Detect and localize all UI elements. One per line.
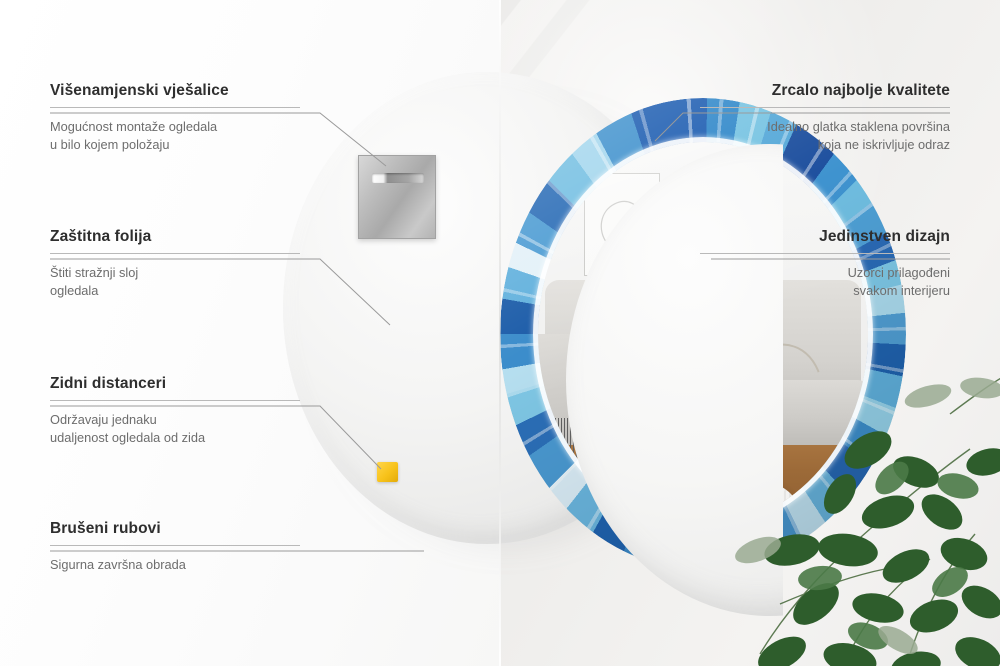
callout-film-rule (50, 253, 300, 254)
callout-hanger-rule (50, 107, 300, 108)
callout-edges-title: Brušeni rubovi (50, 520, 300, 538)
callout-design-title: Jedinstven dizajn (700, 228, 950, 246)
wall-spacer (377, 462, 398, 482)
callout-design: Jedinstven dizajn Uzorci prilagođeni sva… (700, 228, 950, 300)
callout-edges-rule (50, 545, 300, 546)
callout-hanger: Višenamjenski vješalice Mogućnost montaž… (50, 82, 300, 154)
callout-design-body: Uzorci prilagođeni svakom interijeru (700, 264, 950, 300)
callout-hanger-body: Mogućnost montaže ogledala u bilo kojem … (50, 118, 300, 154)
callout-edges: Brušeni rubovi Sigurna završna obrada (50, 520, 300, 574)
plant-decoration (720, 354, 1000, 666)
callout-design-rule (700, 253, 950, 254)
callout-quality-rule (700, 107, 950, 108)
callout-spacers: Zidni distanceri Održavaju jednaku udalj… (50, 375, 300, 447)
callout-spacers-rule (50, 400, 300, 401)
callout-film: Zaštitna folija Štiti stražnji sloj ogle… (50, 228, 300, 300)
product-mirror (283, 72, 691, 544)
callout-quality: Zrcalo najbolje kvalitete Idealno glatka… (700, 82, 950, 154)
infographic-canvas: Višenamjenski vješalice Mogućnost montaž… (0, 0, 1000, 666)
hanger-slot (372, 173, 424, 183)
callout-hanger-title: Višenamjenski vješalice (50, 82, 300, 100)
callout-quality-title: Zrcalo najbolje kvalitete (700, 82, 950, 100)
callout-spacers-body: Održavaju jednaku udaljenost ogledala od… (50, 411, 300, 447)
callout-film-body: Štiti stražnji sloj ogledala (50, 264, 300, 300)
panel-divider (499, 0, 501, 666)
callout-spacers-title: Zidni distanceri (50, 375, 300, 393)
hanger-plate (358, 155, 436, 239)
callout-film-title: Zaštitna folija (50, 228, 300, 246)
callout-quality-body: Idealno glatka staklena površina koja ne… (700, 118, 950, 154)
callout-edges-body: Sigurna završna obrada (50, 556, 300, 574)
